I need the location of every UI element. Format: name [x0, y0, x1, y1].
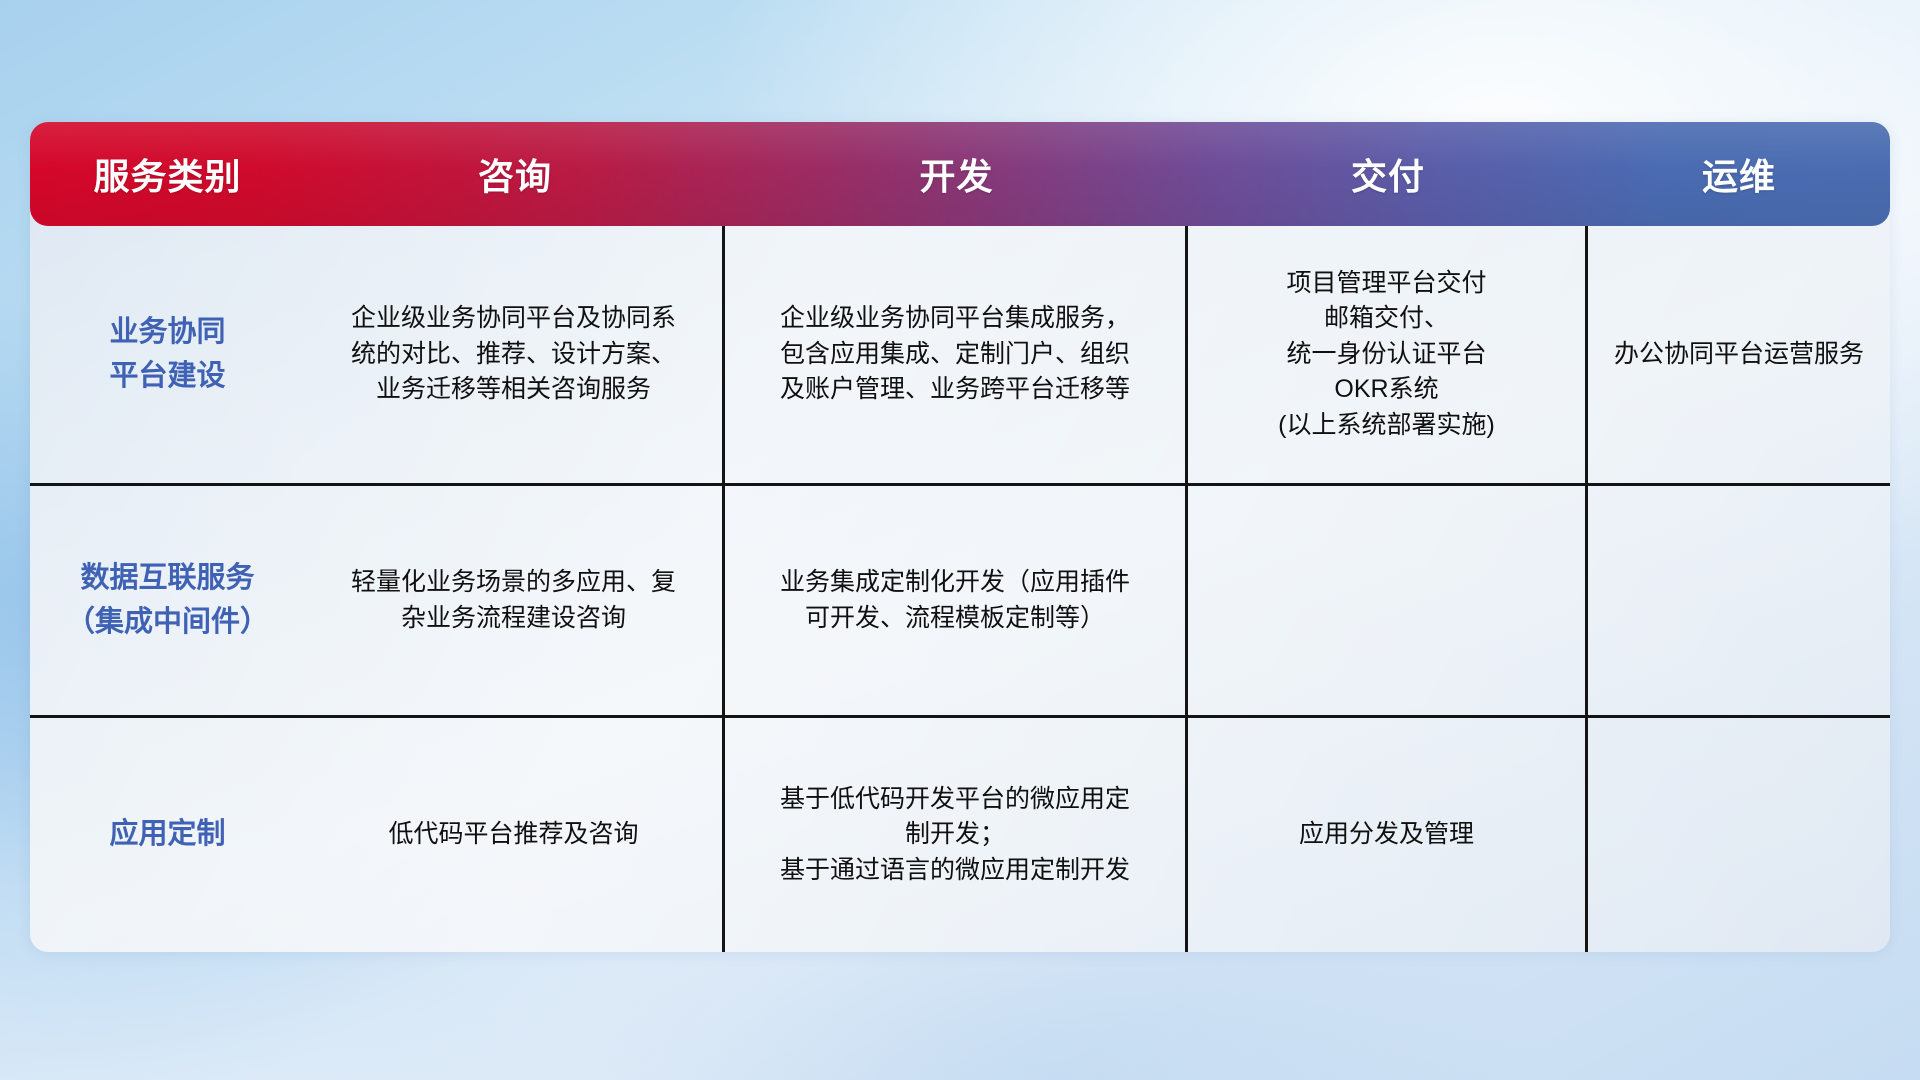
cell-develop: 业务集成定制化开发（应用插件 可开发、流程模板定制等）	[725, 486, 1188, 715]
cell-operate	[1588, 486, 1890, 715]
cell-category: 数据互联服务 （集成中间件）	[30, 486, 305, 715]
cell-deliver	[1188, 486, 1588, 715]
table-row: 数据互联服务 （集成中间件） 轻量化业务场景的多应用、复 杂业务流程建设咨询 业…	[30, 486, 1890, 718]
cell-category: 业务协同 平台建设	[30, 226, 305, 483]
cell-develop: 企业级业务协同平台集成服务， 包含应用集成、定制门户、组织 及账户管理、业务跨平…	[725, 226, 1188, 483]
cell-deliver: 项目管理平台交付 邮箱交付、 统一身份认证平台 OKR系统 (以上系统部署实施)	[1188, 226, 1588, 483]
cell-deliver: 应用分发及管理	[1188, 718, 1588, 952]
column-header-deliver: 交付	[1188, 148, 1588, 200]
column-header-operate: 运维	[1588, 148, 1890, 200]
table-header-row: 服务类别 咨询 开发 交付 运维	[30, 122, 1890, 226]
cell-consult: 轻量化业务场景的多应用、复 杂业务流程建设咨询	[305, 486, 725, 715]
table-row: 应用定制 低代码平台推荐及咨询 基于低代码开发平台的微应用定 制开发； 基于通过…	[30, 718, 1890, 952]
column-header-consult: 咨询	[305, 148, 725, 200]
service-matrix-table: 服务类别 咨询 开发 交付 运维 业务协同 平台建设 企业级业务协同平台及协同系…	[30, 122, 1890, 952]
cell-category: 应用定制	[30, 718, 305, 952]
cell-consult: 企业级业务协同平台及协同系 统的对比、推荐、设计方案、 业务迁移等相关咨询服务	[305, 226, 725, 483]
table-row: 业务协同 平台建设 企业级业务协同平台及协同系 统的对比、推荐、设计方案、 业务…	[30, 226, 1890, 486]
column-header-category: 服务类别	[30, 148, 305, 200]
slide-canvas: 服务类别 咨询 开发 交付 运维 业务协同 平台建设 企业级业务协同平台及协同系…	[0, 0, 1920, 1080]
cell-operate: 办公协同平台运营服务	[1588, 226, 1890, 483]
table-body: 业务协同 平台建设 企业级业务协同平台及协同系 统的对比、推荐、设计方案、 业务…	[30, 226, 1890, 952]
column-header-develop: 开发	[725, 148, 1188, 200]
cell-develop: 基于低代码开发平台的微应用定 制开发； 基于通过语言的微应用定制开发	[725, 718, 1188, 952]
cell-operate	[1588, 718, 1890, 952]
cell-consult: 低代码平台推荐及咨询	[305, 718, 725, 952]
